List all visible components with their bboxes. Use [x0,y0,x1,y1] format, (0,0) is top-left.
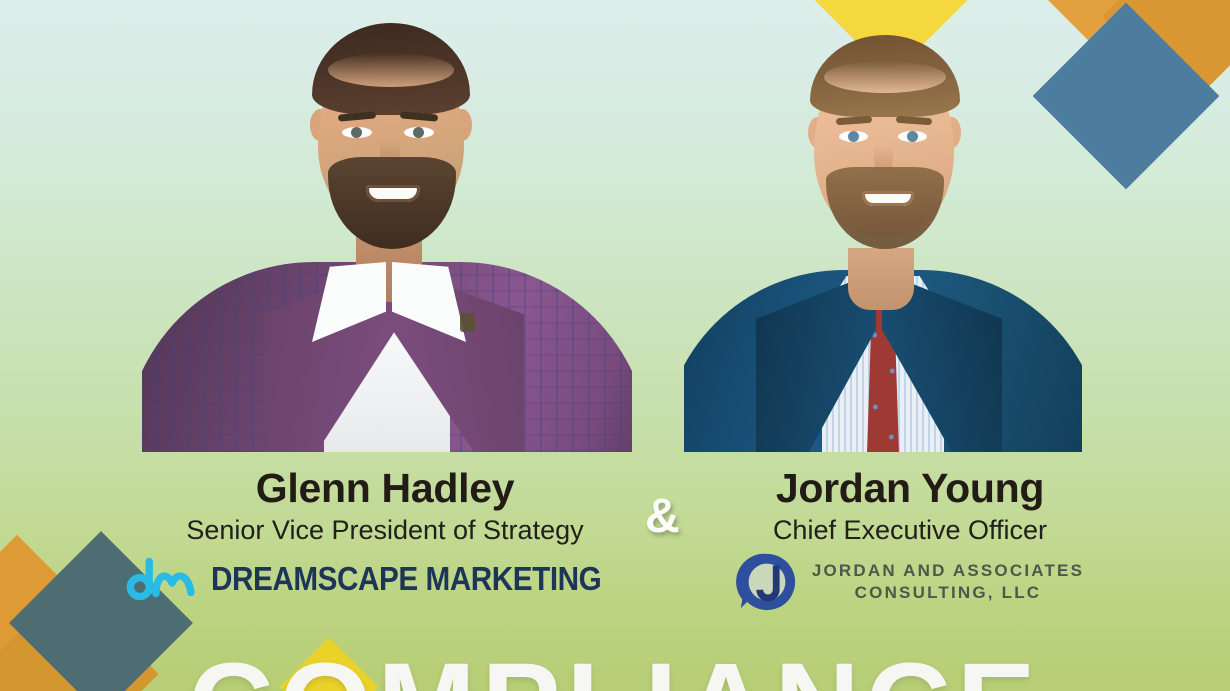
speaker-name-jordan-young: Jordan Young [700,466,1120,510]
speaker-block-jordan-young: Jordan Young Chief Executive Officer JOR… [700,466,1120,613]
jordan-wordmark: JORDAN AND ASSOCIATES CONSULTING, LLC [812,560,1084,604]
speaker-name-glenn-hadley: Glenn Hadley [60,466,710,510]
speaker-title-glenn-hadley: Senior Vice President of Strategy [60,514,710,546]
webinar-speakers-banner: COMPLIANCE [0,0,1230,691]
speaker-title-jordan-young: Chief Executive Officer [700,514,1120,546]
jordan-wordmark-line1: JORDAN AND ASSOCIATES [812,561,1084,580]
dreamscape-dm-mark-icon [125,557,199,601]
ampersand-separator: & [645,489,680,544]
headline-compliance: COMPLIANCE [0,646,1230,691]
speaker-photo-jordan-young [684,0,1082,452]
company-logo-jordan-and-associates: JORDAN AND ASSOCIATES CONSULTING, LLC [700,551,1120,613]
company-logo-dreamscape-marketing: DREAMSCAPE MARKETING [60,557,710,601]
dreamscape-wordmark: DREAMSCAPE MARKETING [211,560,601,598]
jordan-wordmark-line2: CONSULTING, LLC [812,582,1084,604]
jordan-j-mark-icon [736,551,798,613]
speaker-block-glenn-hadley: Glenn Hadley Senior Vice President of St… [60,466,710,601]
speaker-photo-glenn-hadley [142,0,632,452]
